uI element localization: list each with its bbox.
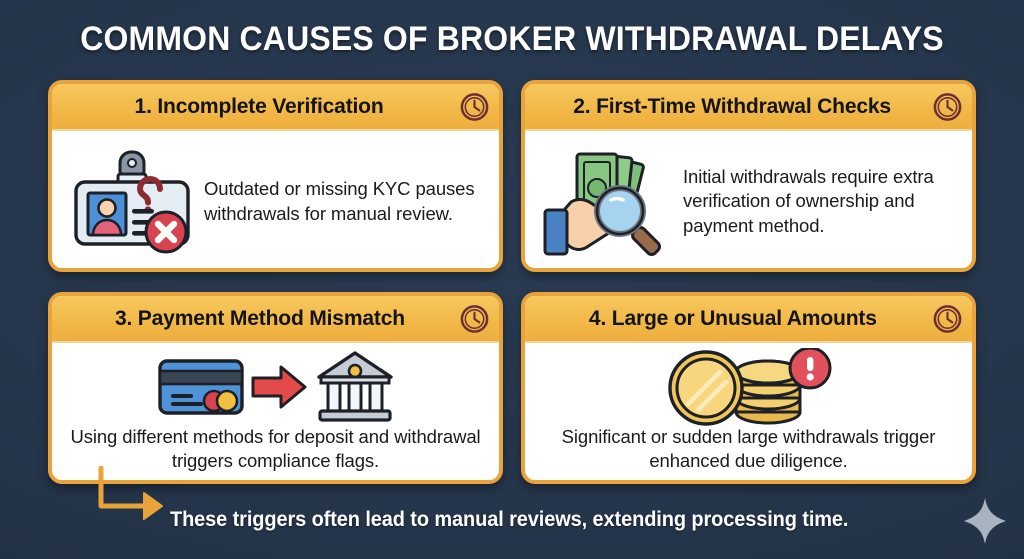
clock-icon <box>459 91 490 122</box>
card-body: Outdated or missing KYC pauses withdrawa… <box>52 131 499 272</box>
clock-icon <box>932 303 963 334</box>
clock-icon <box>932 91 963 122</box>
footer-text: These triggers often lead to manual revi… <box>170 508 848 532</box>
card-header: 4. Large or Unusual Amounts <box>525 296 972 343</box>
card-description: Outdated or missing KYC pauses withdrawa… <box>204 177 485 225</box>
card-heading: 2. First-Time Withdrawal Checks <box>574 94 892 119</box>
credit-card-to-bank-icon <box>157 349 395 425</box>
card-header: 1. Incomplete Verification <box>52 84 499 131</box>
infographic-poster: COMMON CAUSES OF BROKER WITHDRAWAL DELAY… <box>0 0 1024 559</box>
card-header: 3. Payment Method Mismatch <box>52 296 499 343</box>
card-header: 2. First-Time Withdrawal Checks <box>525 84 972 131</box>
card-heading: 3. Payment Method Mismatch <box>115 306 405 331</box>
elbow-arrow-icon <box>96 466 172 528</box>
credit-card-icon <box>157 356 245 418</box>
clock-icon <box>459 303 490 334</box>
card-heading: 4. Large or Unusual Amounts <box>589 306 877 331</box>
page-title: COMMON CAUSES OF BROKER WITHDRAWAL DELAY… <box>31 20 994 59</box>
coins-alert-icon <box>664 349 834 425</box>
footer: These triggers often lead to manual revi… <box>0 488 1024 559</box>
large-coin-icon <box>670 352 742 424</box>
card-large-or-unusual-amounts: 4. Large or Unusual Amounts <box>521 292 976 484</box>
card-incomplete-verification: 1. Incomplete Verification <box>48 80 503 272</box>
red-arrow-icon <box>251 363 309 411</box>
card-body: Using different methods for deposit and … <box>52 343 499 484</box>
hand-cash-magnifier-icon <box>541 144 675 260</box>
card-heading: 1. Incomplete Verification <box>135 94 384 119</box>
id-badge-icon <box>68 146 196 258</box>
card-description: Significant or sudden large withdrawals … <box>525 425 972 473</box>
card-description: Initial withdrawals require extra verifi… <box>683 165 958 238</box>
card-first-time-withdrawal-checks: 2. First-Time Withdrawal Checks <box>521 80 976 272</box>
cards-grid: 1. Incomplete Verification <box>48 80 976 484</box>
card-payment-method-mismatch: 3. Payment Method Mismatch <box>48 292 503 484</box>
bank-building-icon <box>315 349 395 425</box>
card-body: Significant or sudden large withdrawals … <box>525 343 972 484</box>
alert-badge-icon <box>790 348 830 388</box>
card-body: Initial withdrawals require extra verifi… <box>525 131 972 272</box>
sparkle-icon <box>962 496 1008 546</box>
